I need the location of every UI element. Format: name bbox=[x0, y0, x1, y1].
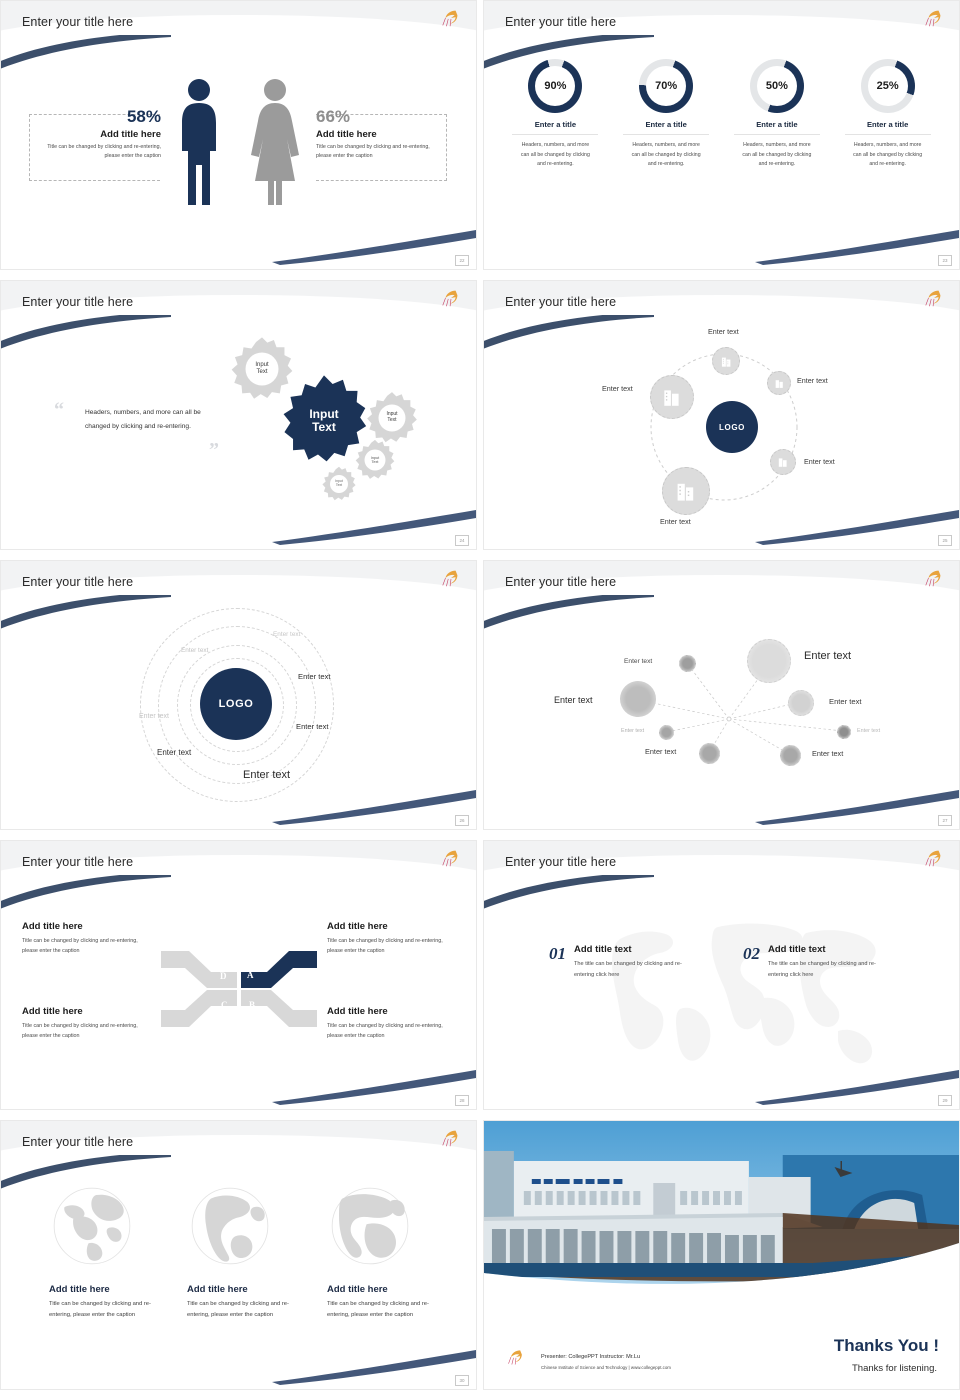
swoosh-top-left bbox=[483, 875, 654, 911]
right-body: Title can be changed by clicking and re-… bbox=[316, 143, 441, 162]
donut-title: Enter a title bbox=[623, 120, 709, 135]
building-node-top[interactable] bbox=[712, 347, 740, 375]
donut-item[interactable]: 70% Enter a title Headers, numbers, and … bbox=[623, 59, 709, 170]
swoosh-bottom-right bbox=[272, 1069, 477, 1105]
page-number: 23 bbox=[938, 255, 952, 266]
globe-heading: Add title here bbox=[327, 1284, 437, 1295]
page-number: 27 bbox=[938, 815, 952, 826]
swoosh-top-left bbox=[0, 35, 171, 71]
quadrant-letter-d: D bbox=[220, 971, 227, 981]
donut-value: 70% bbox=[646, 66, 686, 106]
ring-label-top-left: Enter text bbox=[181, 647, 208, 654]
swoosh-top-left bbox=[0, 315, 171, 351]
swoosh-bottom-right bbox=[755, 509, 960, 545]
page-title: Enter your title here bbox=[22, 575, 133, 589]
donut-value: 25% bbox=[868, 66, 908, 106]
donut-value: 50% bbox=[757, 66, 797, 106]
thanks-heading: Thanks You ! bbox=[834, 1336, 939, 1356]
page-title: Enter your title here bbox=[22, 855, 133, 869]
page-number: 22 bbox=[455, 255, 469, 266]
donut-value: 90% bbox=[535, 66, 575, 106]
ring-label-top-right: Enter text bbox=[273, 631, 300, 638]
page-title: Enter your title here bbox=[22, 295, 133, 309]
node-label-xs-right: Enter text bbox=[857, 728, 880, 734]
male-person-icon bbox=[174, 77, 224, 207]
quadrant-text-top-right: Add title here Title can be changed by c… bbox=[327, 921, 457, 956]
quadrant-heading: Add title here bbox=[327, 1006, 457, 1017]
slide-4[interactable]: Enter your title here LOGO Enter text En… bbox=[483, 280, 960, 550]
building-icon bbox=[720, 355, 733, 368]
slide-5[interactable]: Enter your title here LOGO Enter text En… bbox=[0, 560, 477, 830]
quote-open-icon: “ bbox=[54, 399, 64, 422]
globe-body: Title can be changed by clicking and re-… bbox=[187, 1299, 297, 1322]
slide-8[interactable]: Enter your title here 01 Add title text … bbox=[483, 840, 960, 1110]
node-label-md-right: Enter text bbox=[829, 697, 862, 706]
donut-desc: Headers, numbers, and more can all be ch… bbox=[734, 141, 820, 170]
globe-body: Title can be changed by clicking and re-… bbox=[49, 1299, 159, 1322]
building-node-lower-right[interactable] bbox=[770, 449, 796, 475]
page-title: Enter your title here bbox=[22, 1135, 133, 1149]
page-title: Enter your title here bbox=[22, 15, 133, 29]
donut-desc: Headers, numbers, and more can all be ch… bbox=[845, 141, 931, 170]
donut-title: Enter a title bbox=[512, 120, 598, 135]
slide-10[interactable]: Presenter: CollegePPT Instructor: Mr.Lu … bbox=[483, 1120, 960, 1390]
swoosh-bottom-right bbox=[755, 229, 960, 265]
item-body: The title can be changed by clicking and… bbox=[574, 959, 702, 980]
item-heading: Add title text bbox=[768, 944, 896, 955]
x-arrows-diagram[interactable] bbox=[159, 946, 319, 1032]
presenter-line: Presenter: CollegePPT Instructor: Mr.Lu bbox=[541, 1354, 640, 1360]
network-node-xs-right[interactable] bbox=[837, 725, 851, 739]
item-body: The title can be changed by clicking and… bbox=[768, 959, 896, 980]
donut-row: 90% Enter a title Headers, numbers, and … bbox=[484, 59, 959, 170]
page-number: 28 bbox=[455, 1095, 469, 1106]
donut-chart-25: 25% bbox=[861, 59, 915, 113]
slide-6[interactable]: Enter your title here Enter text Enter t… bbox=[483, 560, 960, 830]
left-stat-block: 58% Add title here Title can be changed … bbox=[39, 107, 161, 162]
right-heading: Add title here bbox=[316, 129, 441, 140]
page-number: 26 bbox=[455, 815, 469, 826]
building-illustration bbox=[484, 1121, 959, 1296]
building-node-left[interactable] bbox=[650, 375, 694, 419]
donut-title: Enter a title bbox=[845, 120, 931, 135]
page-title: Enter your title here bbox=[505, 295, 616, 309]
donut-item[interactable]: 50% Enter a title Headers, numbers, and … bbox=[734, 59, 820, 170]
center-logo-label: LOGO bbox=[219, 698, 254, 710]
gear-tiny-gray[interactable]: InputText bbox=[321, 466, 357, 502]
node-label-xl: Enter text bbox=[804, 650, 851, 662]
building-node-bottom[interactable] bbox=[662, 467, 710, 515]
right-stat-block: 66% Add title here Title can be changed … bbox=[316, 107, 441, 162]
donut-chart-70: 70% bbox=[639, 59, 693, 113]
quadrant-heading: Add title here bbox=[327, 921, 457, 932]
slide-1[interactable]: Enter your title here 58% Add title here… bbox=[0, 0, 477, 270]
swoosh-bottom-right bbox=[272, 229, 477, 265]
network-node-lg[interactable] bbox=[620, 681, 656, 717]
quote-close-icon: ” bbox=[209, 439, 219, 462]
node-label-sm-bottomright: Enter text bbox=[812, 749, 843, 758]
collegeppt-bird-logo-icon bbox=[506, 1347, 526, 1367]
page-number: 30 bbox=[455, 1375, 469, 1386]
slide-9[interactable]: Enter your title here Add title here Tit… bbox=[0, 1120, 477, 1390]
right-percent: 66% bbox=[316, 107, 441, 127]
swoosh-top-left bbox=[483, 315, 654, 351]
ring-label-bottom-left: Enter text bbox=[157, 748, 191, 757]
quadrant-text-top-left: Add title here Title can be changed by c… bbox=[22, 921, 152, 956]
quadrant-letter-b: B bbox=[249, 1000, 255, 1010]
donut-desc: Headers, numbers, and more can all be ch… bbox=[623, 141, 709, 170]
network-node-sm-bottomleft[interactable] bbox=[699, 743, 720, 764]
quadrant-shape-d bbox=[161, 951, 237, 988]
gear-right-gray[interactable]: InputText bbox=[365, 391, 419, 445]
network-node-sm-bottomright[interactable] bbox=[780, 745, 801, 766]
network-node-md-right[interactable] bbox=[788, 690, 814, 716]
page-title: Enter your title here bbox=[505, 15, 616, 29]
gear-label: InputText bbox=[281, 373, 367, 469]
node-label-left: Enter text bbox=[602, 384, 633, 393]
globe-body: Title can be changed by clicking and re-… bbox=[327, 1299, 437, 1322]
building-icon bbox=[661, 386, 683, 408]
ring-label-bottom-large: Enter text bbox=[243, 769, 290, 781]
thanks-subtext: Thanks for listening. bbox=[852, 1363, 937, 1374]
quadrant-body: Title can be changed by clicking and re-… bbox=[327, 1021, 457, 1041]
slide-7[interactable]: Enter your title here Add title here Tit… bbox=[0, 840, 477, 1110]
donut-desc: Headers, numbers, and more can all be ch… bbox=[512, 141, 598, 170]
quadrant-heading: Add title here bbox=[22, 1006, 152, 1017]
globe-item-1[interactable]: Add title here Title can be changed by c… bbox=[49, 1183, 159, 1322]
collegeppt-bird-logo-icon bbox=[440, 567, 462, 589]
page-number: 25 bbox=[938, 535, 952, 546]
page-number: 29 bbox=[938, 1095, 952, 1106]
building-icon bbox=[674, 479, 698, 503]
slide-3[interactable]: Enter your title here “ ” Headers, numbe… bbox=[0, 280, 477, 550]
slide-2[interactable]: Enter your title here 90% Enter a title … bbox=[483, 0, 960, 270]
collegeppt-bird-logo-icon bbox=[923, 287, 945, 309]
center-logo-circle[interactable]: LOGO bbox=[706, 401, 758, 453]
item-heading: Add title text bbox=[574, 944, 702, 955]
quadrant-heading: Add title here bbox=[22, 921, 152, 932]
globe-americas-icon bbox=[187, 1183, 273, 1269]
globe-heading: Add title here bbox=[49, 1284, 159, 1295]
collegeppt-bird-logo-icon bbox=[923, 7, 945, 29]
quadrant-text-bottom-left: Add title here Title can be changed by c… bbox=[22, 1006, 152, 1041]
quadrant-letter-c: C bbox=[221, 1000, 228, 1010]
swoosh-bottom-right bbox=[272, 509, 477, 545]
node-label-sm-bottomleft: Enter text bbox=[645, 747, 676, 756]
left-percent: 58% bbox=[39, 107, 161, 127]
network-node-sm-topleft[interactable] bbox=[679, 655, 696, 672]
quote-text: Headers, numbers, and more can all be ch… bbox=[85, 406, 220, 433]
female-person-icon bbox=[249, 77, 301, 207]
quadrant-body: Title can be changed by clicking and re-… bbox=[22, 1021, 152, 1041]
globe-item-2[interactable]: Add title here Title can be changed by c… bbox=[187, 1183, 297, 1322]
collegeppt-bird-logo-icon bbox=[440, 847, 462, 869]
swoosh-top-left bbox=[0, 875, 171, 911]
quadrant-body: Title can be changed by clicking and re-… bbox=[22, 936, 152, 956]
donut-title: Enter a title bbox=[734, 120, 820, 135]
node-label-xs-left: Enter text bbox=[621, 728, 644, 734]
numbered-item-01[interactable]: 01 Add title text The title can be chang… bbox=[549, 944, 702, 980]
world-map-watermark bbox=[592, 909, 892, 1069]
campus-building-photo bbox=[484, 1121, 959, 1296]
swoosh-bottom-right bbox=[272, 1349, 477, 1385]
quadrant-body: Title can be changed by clicking and re-… bbox=[327, 936, 457, 956]
donut-chart-50: 50% bbox=[750, 59, 804, 113]
globe-eurasia-icon bbox=[49, 1183, 135, 1269]
item-number: 01 bbox=[549, 944, 566, 964]
network-node-xl[interactable] bbox=[747, 639, 791, 683]
building-icon bbox=[774, 378, 785, 389]
globe-item-3[interactable]: Add title here Title can be changed by c… bbox=[327, 1183, 437, 1322]
node-label-lg: Enter text bbox=[554, 695, 593, 705]
gear-label: InputText bbox=[365, 391, 419, 445]
quadrant-letter-a: A bbox=[247, 970, 254, 980]
swoosh-bottom-right bbox=[755, 1069, 960, 1105]
slide-deck: Enter your title here 58% Add title here… bbox=[0, 0, 960, 1400]
node-label-upper-right: Enter text bbox=[797, 376, 828, 385]
network-node-xs-left[interactable] bbox=[659, 725, 674, 740]
globe-heading: Add title here bbox=[187, 1284, 297, 1295]
node-label-bottom: Enter text bbox=[660, 517, 691, 526]
building-icon bbox=[777, 456, 789, 468]
swoosh-bottom-right bbox=[272, 789, 477, 825]
collegeppt-bird-logo-icon bbox=[440, 287, 462, 309]
collegeppt-bird-logo-icon bbox=[923, 847, 945, 869]
page-number: 24 bbox=[455, 535, 469, 546]
node-label-sm-topleft: Enter text bbox=[624, 658, 652, 665]
left-heading: Add title here bbox=[39, 129, 161, 140]
building-node-upper-right[interactable] bbox=[767, 371, 791, 395]
swoosh-top-left bbox=[0, 595, 171, 631]
center-logo-circle[interactable]: LOGO bbox=[200, 668, 272, 740]
ring-label-right-lower: Enter text bbox=[296, 722, 329, 731]
globe-africa-icon bbox=[327, 1183, 413, 1269]
donut-item[interactable]: 90% Enter a title Headers, numbers, and … bbox=[512, 59, 598, 170]
center-logo-label: LOGO bbox=[719, 423, 745, 432]
donut-item[interactable]: 25% Enter a title Headers, numbers, and … bbox=[845, 59, 931, 170]
left-body: Title can be changed by clicking and re-… bbox=[39, 143, 161, 162]
ring-label-left: Enter text bbox=[139, 713, 169, 720]
node-label-top: Enter text bbox=[708, 327, 739, 336]
node-label-lower-right: Enter text bbox=[804, 457, 835, 466]
collegeppt-bird-logo-icon bbox=[440, 7, 462, 29]
organization-line: Chinese Institute of Science and Technol… bbox=[541, 1365, 671, 1370]
numbered-item-02[interactable]: 02 Add title text The title can be chang… bbox=[743, 944, 896, 980]
gear-main-navy[interactable]: InputText bbox=[281, 373, 367, 469]
ring-label-right-upper: Enter text bbox=[298, 672, 331, 681]
page-title: Enter your title here bbox=[505, 855, 616, 869]
collegeppt-bird-logo-icon bbox=[440, 1127, 462, 1149]
donut-chart-90: 90% bbox=[528, 59, 582, 113]
gear-label: InputText bbox=[321, 466, 357, 502]
quadrant-text-bottom-right: Add title here Title can be changed by c… bbox=[327, 1006, 457, 1041]
item-number: 02 bbox=[743, 944, 760, 964]
